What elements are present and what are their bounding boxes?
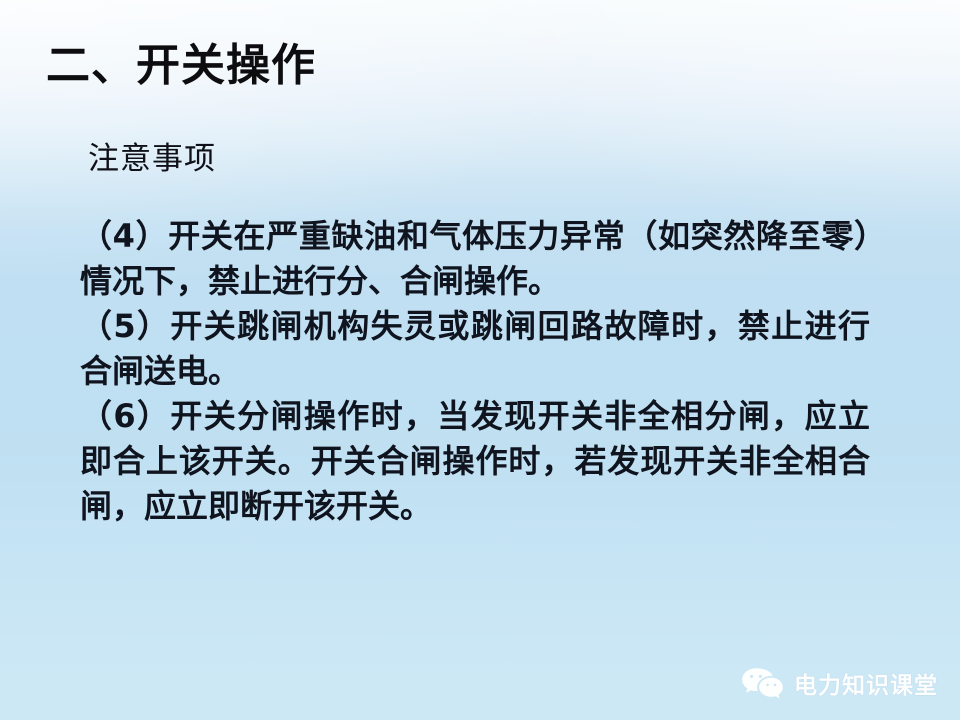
slide-canvas: 二、开关操作 注意事项 （4）开关在严重缺油和气体压力异常（如突然降至零）情况下… — [0, 0, 960, 720]
watermark-label: 电力知识课堂 — [794, 666, 938, 700]
watermark: 电力知识课堂 — [741, 666, 938, 700]
body-paragraph-4: （4）开关在严重缺油和气体压力异常（如突然降至零）情况下，禁止进行分、合闸操作。 — [80, 214, 870, 304]
wechat-icon — [741, 666, 785, 700]
body-paragraph-5: （5）开关跳闸机构失灵或跳闸回路故障时，禁止进行合闸送电。 — [80, 304, 870, 394]
body-paragraph-6: （6）开关分闸操作时，当发现开关非全相分闸，应立即合上该开关。开关合闸操作时，若… — [80, 394, 870, 529]
body-text-block: （4）开关在严重缺油和气体压力异常（如突然降至零）情况下，禁止进行分、合闸操作。… — [80, 214, 870, 529]
page-title: 二、开关操作 — [46, 42, 316, 90]
section-subtitle: 注意事项 — [88, 133, 216, 178]
